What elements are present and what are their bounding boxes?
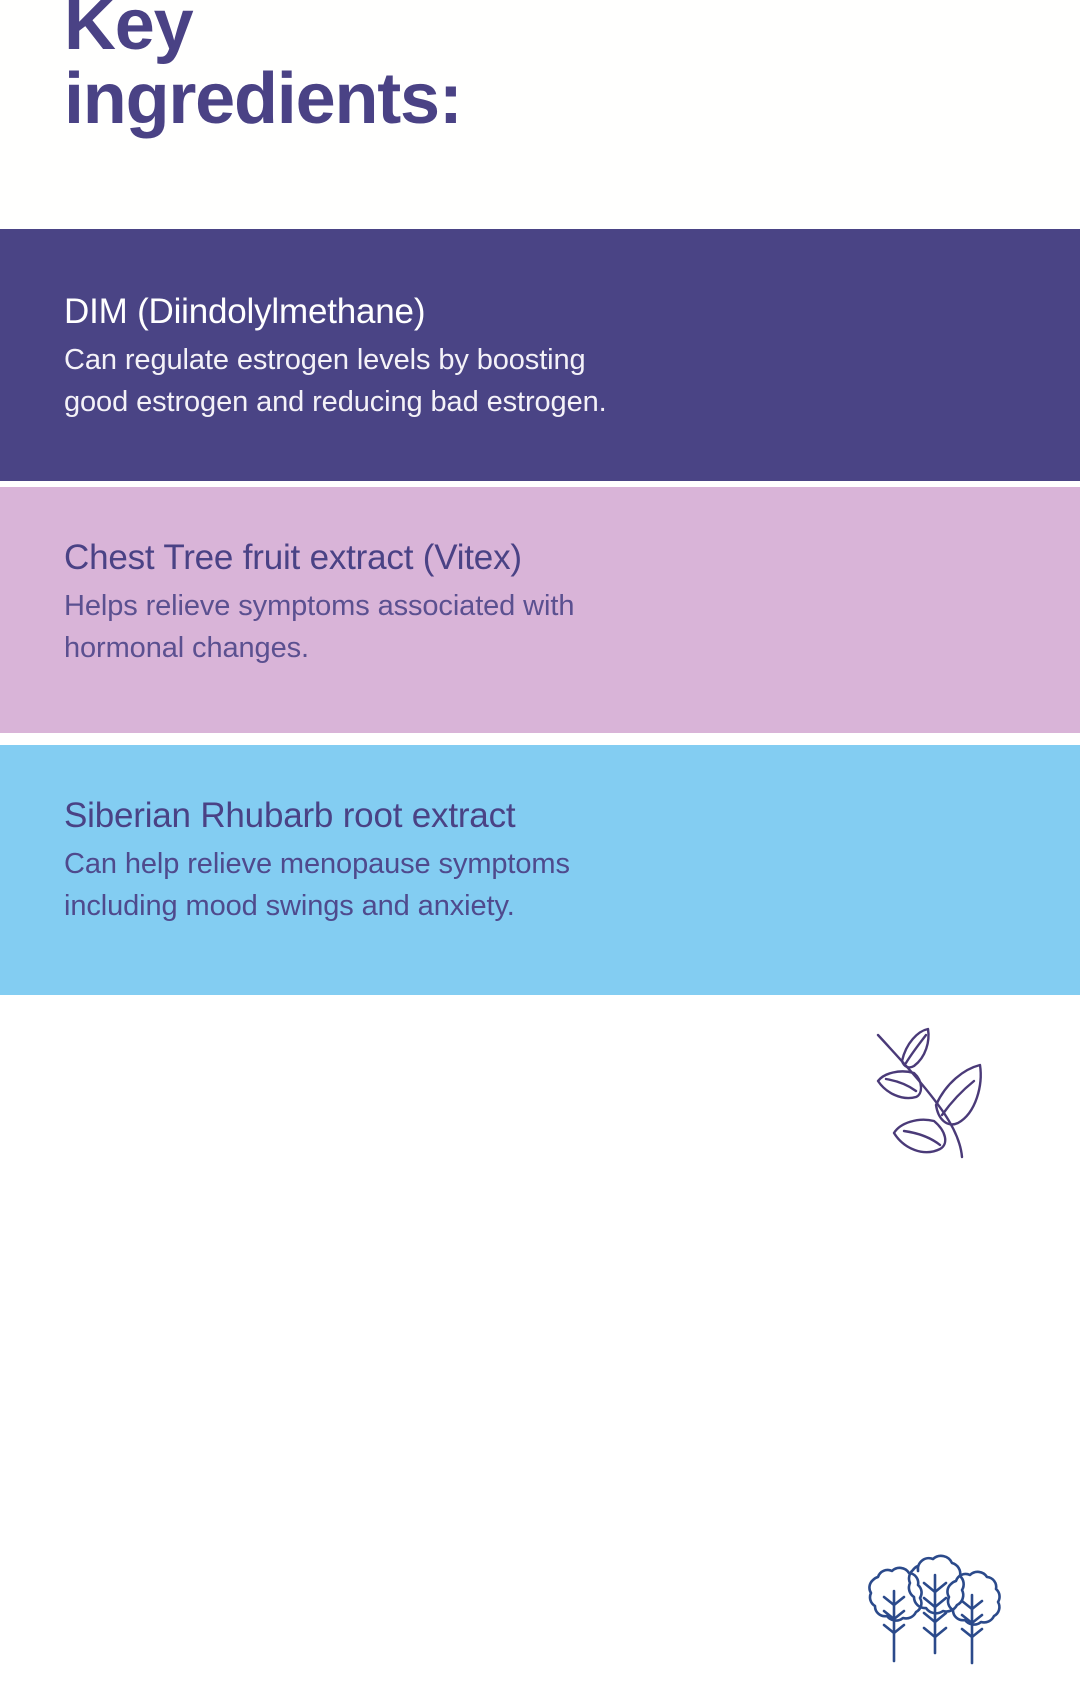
ingredient-title-dim: DIM (Diindolylmethane) — [64, 291, 780, 333]
ingredient-text-rhubarb: Siberian Rhubarb root extract Can help r… — [64, 795, 780, 927]
ingredient-title-vitex: Chest Tree fruit extract (Vitex) — [64, 537, 780, 579]
leaf-branch-icon — [868, 1021, 990, 1161]
ingredient-description-rhubarb: Can help relieve menopause symptoms incl… — [64, 843, 780, 927]
ingredient-text-vitex: Chest Tree fruit extract (Vitex) Helps r… — [64, 537, 780, 669]
ingredient-title-rhubarb: Siberian Rhubarb root extract — [64, 795, 780, 837]
ingredient-description-dim: Can regulate estrogen levels by boosting… — [64, 339, 780, 423]
heading-section: Key ingredients: — [0, 0, 1080, 229]
ingredient-panel-rhubarb: Siberian Rhubarb root extract Can help r… — [0, 745, 1080, 995]
ingredient-text-dim: DIM (Diindolylmethane) Can regulate estr… — [64, 291, 780, 423]
ingredient-panel-vitex: Chest Tree fruit extract (Vitex) Helps r… — [0, 487, 1080, 733]
three-trees-icon — [856, 1549, 1014, 1681]
ingredient-panel-dim: DIM (Diindolylmethane) Can regulate estr… — [0, 229, 1080, 481]
ingredient-description-vitex: Helps relieve symptoms associated with h… — [64, 585, 780, 669]
page-title: Key ingredients: — [64, 0, 884, 136]
